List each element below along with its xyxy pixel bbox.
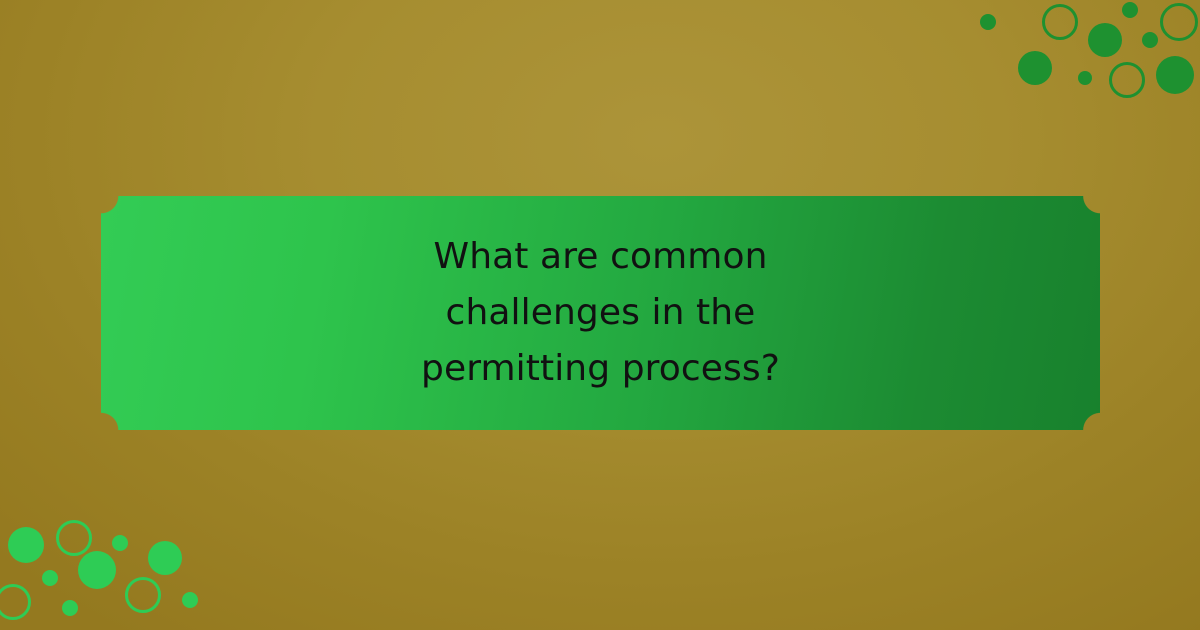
deco-bottom-left-filled-circle-9 <box>182 592 198 608</box>
deco-bottom-left-filled-circle-0 <box>8 527 44 563</box>
deco-top-right-filled-circle-9 <box>1156 56 1194 94</box>
deco-top-right-ring-circle-8 <box>1109 62 1145 98</box>
deco-top-right-filled-circle-0 <box>980 14 996 30</box>
deco-top-right-filled-circle-2 <box>1018 51 1052 85</box>
decorative-circles-bottom-left <box>0 510 220 630</box>
deco-bottom-left-ring-circle-3 <box>0 584 31 620</box>
question-headline: What are common challenges in the permit… <box>281 229 921 397</box>
decorative-circles-top-right <box>980 0 1200 115</box>
deco-top-right-filled-circle-6 <box>1088 23 1122 57</box>
deco-bottom-left-ring-circle-8 <box>125 577 161 613</box>
deco-bottom-left-filled-circle-7 <box>148 541 182 575</box>
deco-bottom-left-ring-circle-1 <box>56 520 92 556</box>
question-banner: What are common challenges in the permit… <box>101 196 1100 430</box>
deco-bottom-left-filled-circle-4 <box>78 551 116 589</box>
deco-bottom-left-filled-circle-5 <box>62 600 78 616</box>
deco-bottom-left-filled-circle-6 <box>112 535 128 551</box>
deco-top-right-ring-circle-1 <box>1042 4 1078 40</box>
deco-top-right-ring-circle-5 <box>1160 3 1198 41</box>
deco-top-right-filled-circle-7 <box>1142 32 1158 48</box>
deco-top-right-filled-circle-3 <box>1078 71 1092 85</box>
deco-top-right-filled-circle-4 <box>1122 2 1138 18</box>
deco-bottom-left-filled-circle-2 <box>42 570 58 586</box>
social-card-canvas: What are common challenges in the permit… <box>0 0 1200 630</box>
